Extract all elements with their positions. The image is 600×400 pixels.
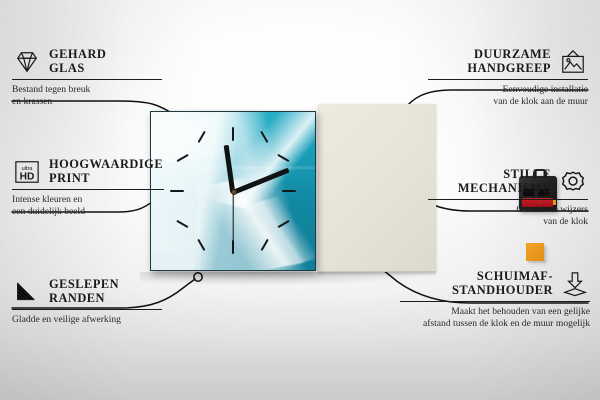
feature-divider [12,189,164,190]
feature-description: Eenvoudige installatie van de klok aan d… [428,84,588,107]
wall-panel [318,104,436,272]
feature-divider [400,301,590,302]
feature-schuimafstandhouder: SCHUIMAF- STANDHOUDER Maakt het behouden… [400,270,590,329]
product-photo [140,96,340,286]
clock-second-hand [232,192,233,248]
beveled-edges-icon [12,279,42,305]
foam-spacer [526,243,544,261]
feature-stille-mechanisme: STILLE MECHANISME Geruisloze wijzers van… [428,168,588,227]
feature-gehard-glas: GEHARD GLAS Bestand tegen breuk en krass… [12,48,162,107]
clock-tick-12 [232,127,234,141]
clock-center-pin [231,189,237,195]
feature-divider [428,199,588,200]
feature-geslepen-randen: GESLEPEN RANDEN Gladde en veilige afwerk… [12,278,162,326]
feature-hoogwaardige-print: ultra HD HOOGWAARDIGE PRINT Intense kleu… [12,158,164,217]
ultra-hd-icon: ultra HD [12,159,42,185]
gear-icon [558,169,588,195]
feature-description: Gladde en veilige afwerking [12,314,162,326]
feature-description: Geruisloze wijzers van de klok [428,204,588,227]
feature-title: HOOGWAARDIGE PRINT [49,158,163,185]
spacer-press-icon [560,271,590,297]
feature-description: Intense kleuren en een duidelijk beeld [12,194,164,217]
feature-title: SCHUIMAF- STANDHOUDER [452,270,553,297]
glass-wall-clock [150,111,316,271]
feature-title: GEHARD GLAS [49,48,106,75]
feature-duurzame-handgreep: DUURZAME HANDGREEP Eenvoudige installati… [428,48,588,107]
feature-title: DUURZAME HANDGREEP [467,48,551,75]
feature-divider [12,79,162,80]
feature-title: STILLE MECHANISME [458,168,551,195]
feature-description: Bestand tegen breuk en krassen [12,84,162,107]
product-feature-infographic: GEHARD GLAS Bestand tegen breuk en krass… [0,0,600,400]
svg-text:HD: HD [20,171,35,182]
feature-divider [12,309,162,310]
feature-divider [428,79,588,80]
feature-title: GESLEPEN RANDEN [49,278,119,305]
picture-frame-hanger-icon [558,49,588,75]
feature-description: Maakt het behouden van een gelijke afsta… [400,306,590,329]
diamond-icon [12,49,42,75]
